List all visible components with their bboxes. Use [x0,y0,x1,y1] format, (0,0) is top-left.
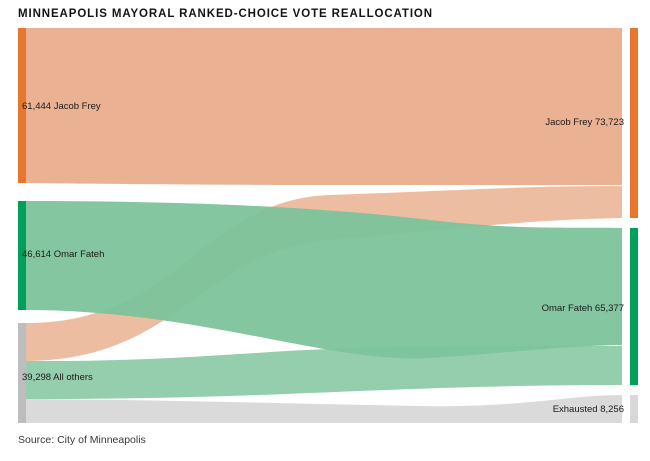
sankey-chart: MINNEAPOLIS MAYORAL RANKED-CHOICE VOTE R… [0,0,650,461]
source-note: Source: City of Minneapolis [18,434,146,446]
node-bar-frey-final [630,28,638,218]
link-others-to-fateh [26,346,622,399]
first-round-omar-fateh-label: 46,614 Omar Fateh [22,249,104,260]
first-round-all-others-label: 39,298 All others [22,372,93,383]
final-exhausted-label: Exhausted 8,256 [428,404,624,415]
node-bar-fateh-final [630,228,638,385]
sankey-links [26,28,622,423]
sankey-svg [0,0,650,461]
node-bar-exhausted-final [630,395,638,423]
final-jacob-frey-label: Jacob Frey 73,723 [428,117,624,128]
link-frey-to-frey [26,28,622,185]
first-round-jacob-frey-label: 61,444 Jacob Frey [22,101,101,112]
final-omar-fateh-label: Omar Fateh 65,377 [428,303,624,314]
